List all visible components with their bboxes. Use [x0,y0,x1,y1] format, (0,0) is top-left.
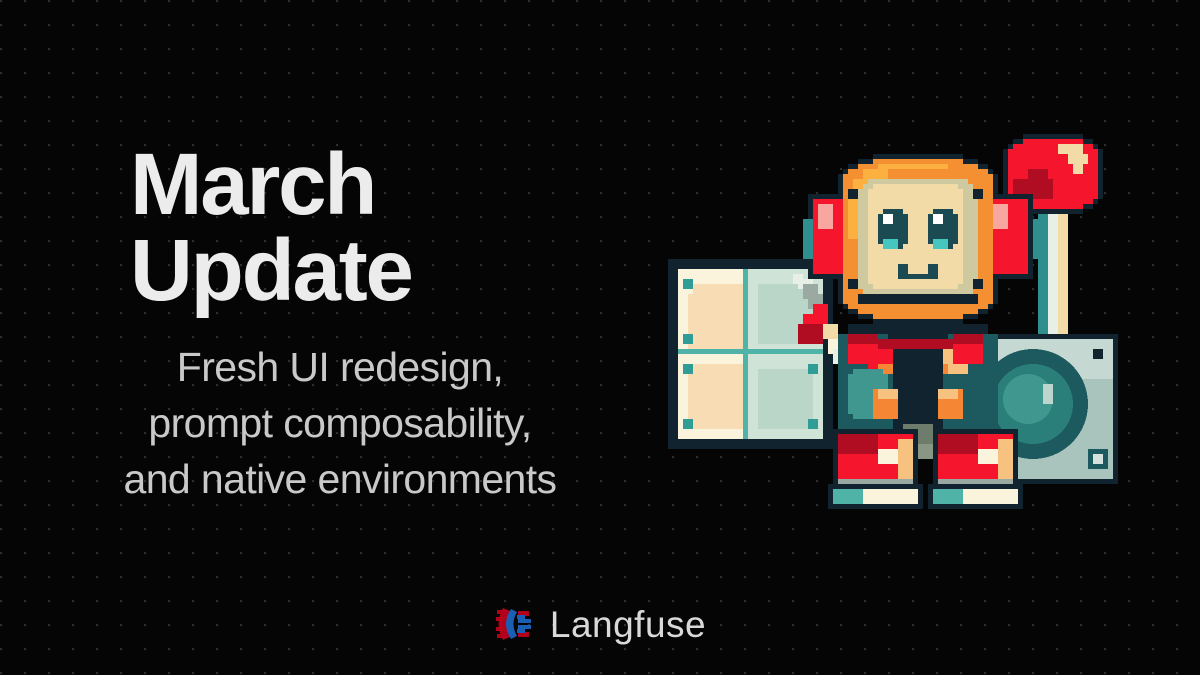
march-update-banner: March Update Fresh UI redesign, prompt c… [0,0,1200,675]
robot-illustration [648,118,1118,510]
langfuse-logo-icon [494,604,536,644]
page-title: March Update [130,142,550,314]
page-subtitle: Fresh UI redesign, prompt composability,… [30,340,650,507]
brand-lockup: Langfuse [0,604,1200,644]
text-column: March Update Fresh UI redesign, prompt c… [0,0,680,560]
brand-name: Langfuse [550,606,706,643]
robot-face [848,179,983,304]
